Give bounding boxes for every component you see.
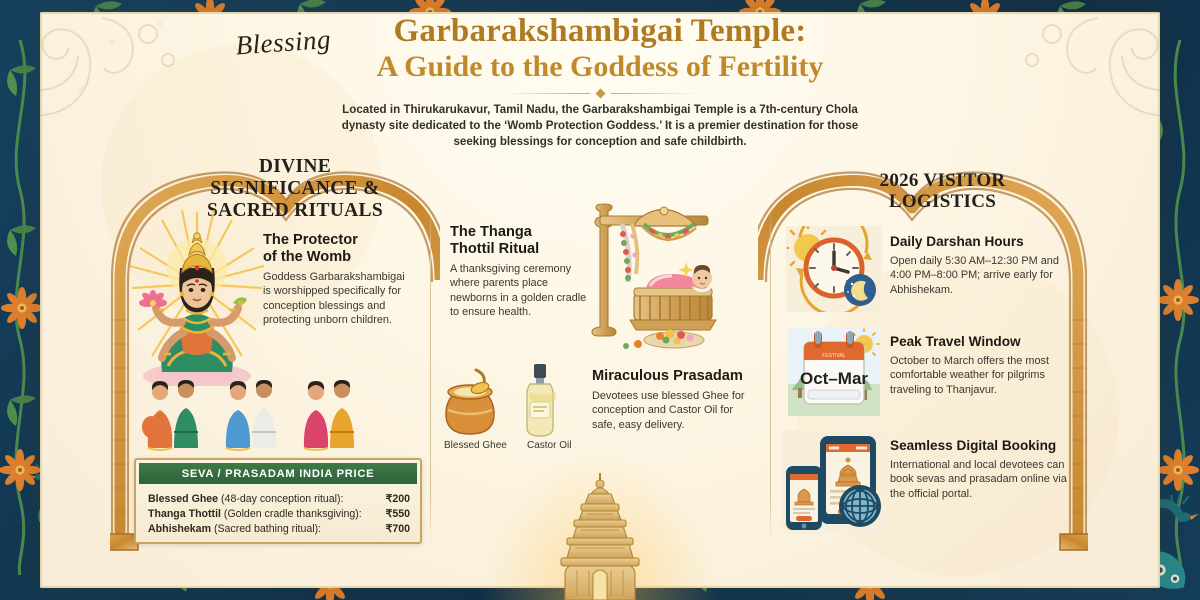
block-body: Open daily 5:30 AM–12:30 PM and 4:00 PM–…	[890, 254, 1070, 298]
page-title: Garbarakshambigai Temple:	[330, 14, 870, 49]
block-body: International and local devotees can boo…	[890, 458, 1078, 502]
block-body: Devotees use blessed Ghee for conception…	[592, 389, 752, 433]
page-subtitle: A Guide to the Goddess of Fertility	[330, 50, 870, 84]
block-title: The Protector of the Womb	[263, 232, 415, 266]
calendar-month-label: FESTIVAL	[822, 353, 845, 359]
calendar-icon: FESTIVAL Oct–Mar	[788, 328, 880, 416]
price-table-body: Blessed Ghee (48-day conception ritual):…	[136, 487, 420, 542]
block-body: A thanksgiving ceremony where parents pl…	[450, 262, 590, 320]
price-table-header: SEVA / PRASADAM INDIA PRICE	[139, 463, 417, 484]
table-row: Thanga Thottil (Golden cradle thanksgivi…	[148, 506, 410, 521]
column-divider	[430, 208, 431, 544]
daily-darshan-hours-block: Daily Darshan Hours Open daily 5:30 AM–1…	[890, 234, 1070, 297]
temple-gopuram-silhouette	[505, 470, 695, 600]
table-row: Abhishekam (Sacred bathing ritual): ₹700	[148, 521, 410, 536]
right-column-heading: 2026 VISITOR LOGISTICS	[800, 170, 1085, 213]
protector-of-the-womb-block: The Protector of the Womb Goddess Garbar…	[263, 232, 415, 328]
devotee-families-illustration	[136, 376, 361, 452]
block-body: Goddess Garbarakshambigai is worshipped …	[263, 270, 415, 328]
block-title: Daily Darshan Hours	[890, 234, 1070, 250]
paisley-corner-ornament	[1000, 12, 1160, 132]
price-amount: ₹700	[368, 523, 410, 535]
seamless-digital-booking-block: Seamless Digital Booking International a…	[890, 438, 1078, 501]
block-title: The Thanga Thottil Ritual	[450, 224, 590, 258]
clock-sun-moon-icon	[786, 226, 882, 312]
price-amount: ₹550	[368, 508, 410, 520]
seva-price-table: SEVA / PRASADAM INDIA PRICE Blessed Ghee…	[134, 458, 422, 544]
table-row: Blessed Ghee (48-day conception ritual):…	[148, 491, 410, 506]
block-body: October to March offers the most comfort…	[890, 354, 1070, 398]
thanga-thottil-block: The Thanga Thottil Ritual A thanksgiving…	[450, 224, 590, 320]
calendar-range-label: Oct–Mar	[800, 369, 868, 388]
intro-paragraph: Located in Thirukarukavur, Tamil Nadu, t…	[330, 102, 870, 151]
block-title: Peak Travel Window	[890, 334, 1070, 350]
goddess-garbarakshambigai-illustration	[122, 206, 272, 386]
column-divider	[770, 208, 771, 544]
prasadam-ghee-and-oil-illustration	[440, 362, 590, 438]
golden-cradle-with-baby-illustration	[578, 200, 718, 350]
title-divider	[330, 90, 870, 97]
poster-header: Garbarakshambigai Temple: A Guide to the…	[330, 14, 870, 150]
peak-travel-window-block: Peak Travel Window October to March offe…	[890, 334, 1070, 397]
infographic-poster: Blessing Garbarakshambigai Temple: A Gui…	[0, 0, 1200, 600]
tablet-phone-globe-icon	[782, 430, 886, 534]
miraculous-prasadam-block: Miraculous Prasadam Devotees use blessed…	[592, 368, 752, 432]
price-amount: ₹200	[368, 493, 410, 505]
block-title: Seamless Digital Booking	[890, 438, 1078, 454]
block-title: Miraculous Prasadam	[592, 368, 752, 385]
paisley-corner-ornament	[40, 12, 200, 132]
